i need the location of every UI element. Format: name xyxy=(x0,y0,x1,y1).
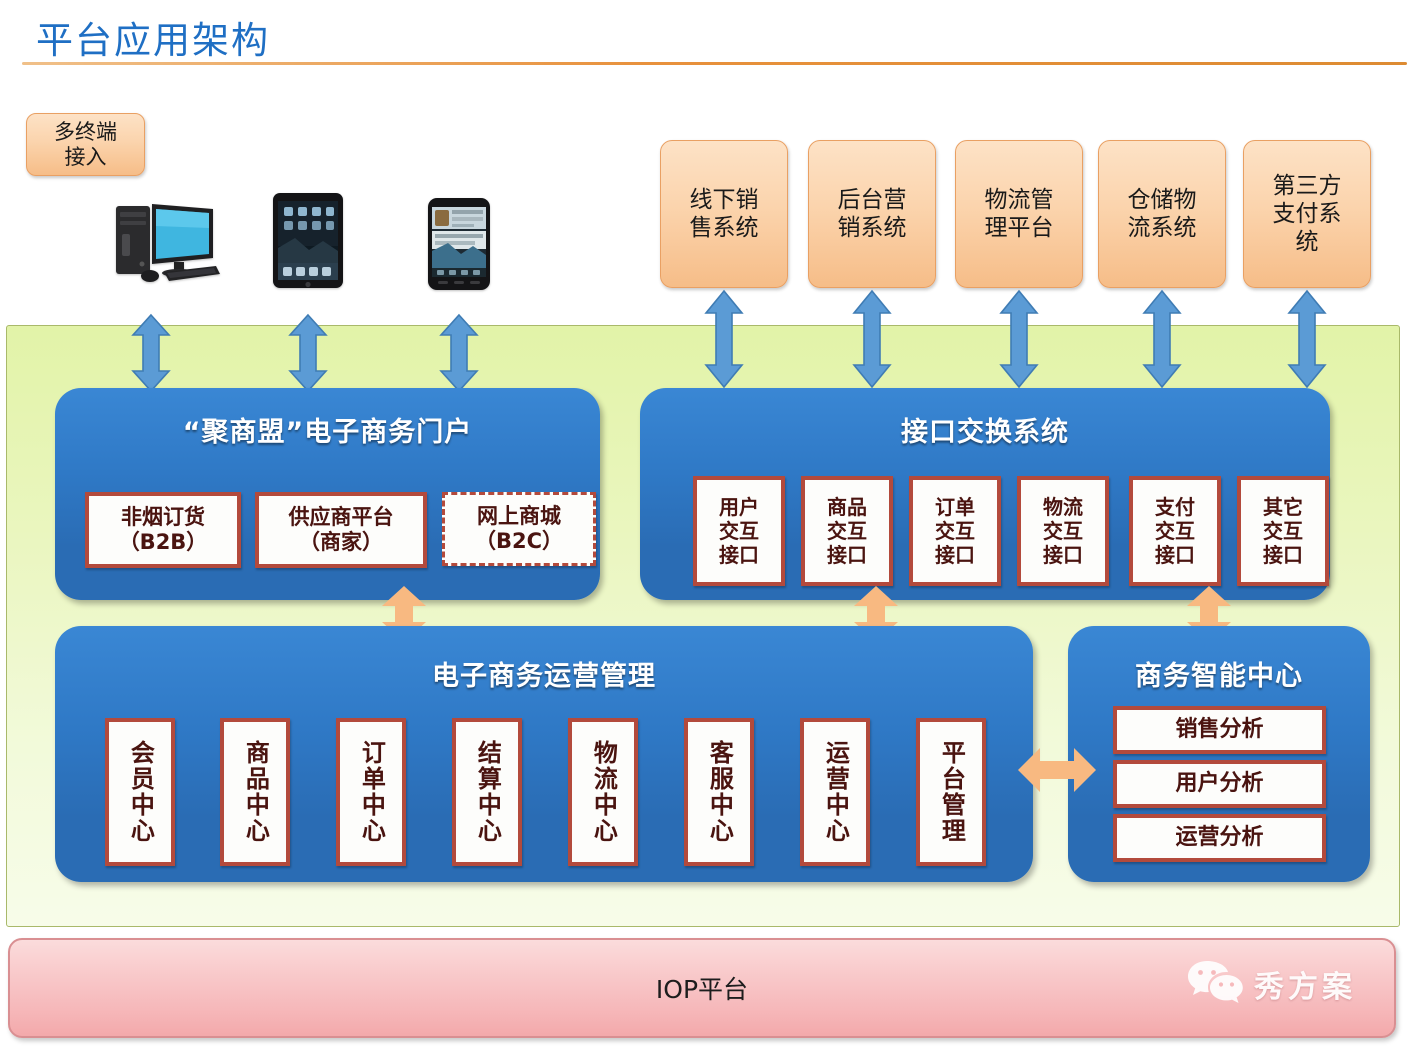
bi-user-analysis-label: 用户分析 xyxy=(1175,771,1263,797)
interface-logistics-line2: 交互 xyxy=(1043,519,1083,543)
smartphone-icon xyxy=(428,198,490,295)
portal-item-b2c[interactable]: 网上商城 （B2C） xyxy=(442,492,596,566)
bi-operation-analysis-label: 运营分析 xyxy=(1175,825,1263,851)
interface-payment-line1: 支付 xyxy=(1155,495,1195,519)
operations-operation-center[interactable]: 运营中心 xyxy=(800,718,870,866)
operations-product-center-label: 商品中心 xyxy=(241,740,270,844)
operations-customer-service-center-label: 客服中心 xyxy=(705,740,734,844)
ext-sys-line3: 统 xyxy=(1273,228,1342,256)
business-intelligence-box: 商务智能中心 销售分析 用户分析 运营分析 xyxy=(1068,626,1370,882)
interface-user-line2: 交互 xyxy=(719,519,759,543)
interface-user-line1: 用户 xyxy=(719,495,759,519)
operations-management-box: 电子商务运营管理 会员中心 商品中心 订单中心 结算中心 物流中心 客服中心 运… xyxy=(55,626,1033,882)
page-title: 平台应用架构 xyxy=(36,10,270,64)
tablet-icon xyxy=(273,193,343,293)
interface-user-line3: 接口 xyxy=(719,543,759,567)
bi-sales-analysis[interactable]: 销售分析 xyxy=(1113,706,1326,754)
ext-sys-line2: 流系统 xyxy=(1128,214,1197,242)
arrow-external-offline-sales xyxy=(703,290,745,388)
interface-payment-line2: 交互 xyxy=(1155,519,1195,543)
external-system-third-party-payment: 第三方 支付系 统 xyxy=(1243,140,1371,288)
interface-product-line3: 接口 xyxy=(827,543,867,567)
interface-payment[interactable]: 支付 交互 接口 xyxy=(1129,476,1221,586)
operations-operation-center-label: 运营中心 xyxy=(821,740,850,844)
desktop-icon xyxy=(112,196,220,291)
bi-operation-analysis[interactable]: 运营分析 xyxy=(1113,814,1326,862)
external-system-offline-sales: 线下销 售系统 xyxy=(660,140,788,288)
ecommerce-portal-box: “聚商盟”电子商务门户 非烟订货 （B2B） 供应商平台 （商家） 网上商城 （… xyxy=(55,388,600,600)
operations-order-center-label: 订单中心 xyxy=(357,740,386,844)
watermark-text: 秀方案 xyxy=(1254,962,1356,1006)
arrow-terminal-smartphone xyxy=(438,314,480,392)
interface-exchange-box: 接口交换系统 用户 交互 接口 商品 交互 接口 订单 交互 接口 物流 交互 … xyxy=(640,388,1330,600)
operations-management-title: 电子商务运营管理 xyxy=(55,654,1033,693)
portal-item-b2b-line2: （B2B） xyxy=(119,530,208,555)
operations-member-center[interactable]: 会员中心 xyxy=(105,718,175,866)
portal-item-b2b-line1: 非烟订货 xyxy=(119,505,208,530)
ext-sys-line2: 支付系 xyxy=(1273,200,1342,228)
portal-item-supplier[interactable]: 供应商平台 （商家） xyxy=(255,492,427,568)
bi-user-analysis[interactable]: 用户分析 xyxy=(1113,760,1326,808)
interface-payment-line3: 接口 xyxy=(1155,543,1195,567)
multi-terminal-line2: 接入 xyxy=(54,145,117,169)
operations-logistics-center-label: 物流中心 xyxy=(589,740,618,844)
interface-other-line1: 其它 xyxy=(1263,495,1303,519)
multi-terminal-line1: 多终端 xyxy=(54,120,117,144)
interface-product[interactable]: 商品 交互 接口 xyxy=(801,476,893,586)
ext-sys-line1: 后台营 xyxy=(838,186,907,214)
bi-sales-analysis-label: 销售分析 xyxy=(1175,717,1263,743)
business-intelligence-title: 商务智能中心 xyxy=(1068,654,1370,693)
arrow-terminal-tablet xyxy=(287,314,329,392)
arrow-external-logistics-platform xyxy=(998,290,1040,388)
portal-item-supplier-line1: 供应商平台 xyxy=(289,505,394,530)
title-divider xyxy=(22,62,1407,65)
portal-item-b2c-line2: （B2C） xyxy=(475,529,563,554)
interface-other-line2: 交互 xyxy=(1263,519,1303,543)
external-system-backend-marketing: 后台营 销系统 xyxy=(808,140,936,288)
ext-sys-line1: 线下销 xyxy=(690,186,759,214)
ext-sys-line2: 销系统 xyxy=(838,214,907,242)
portal-item-supplier-line2: （商家） xyxy=(289,530,394,555)
interface-other-line3: 接口 xyxy=(1263,543,1303,567)
interface-order[interactable]: 订单 交互 接口 xyxy=(909,476,1001,586)
interface-product-line2: 交互 xyxy=(827,519,867,543)
ext-sys-line1: 第三方 xyxy=(1273,172,1342,200)
operations-platform-management-label: 平台管理 xyxy=(937,740,966,844)
operations-order-center[interactable]: 订单中心 xyxy=(336,718,406,866)
interface-product-line1: 商品 xyxy=(827,495,867,519)
operations-settlement-center[interactable]: 结算中心 xyxy=(452,718,522,866)
external-system-warehouse-logistics: 仓储物 流系统 xyxy=(1098,140,1226,288)
iop-platform-bar: IOP平台 秀方案 xyxy=(8,938,1396,1038)
interface-other[interactable]: 其它 交互 接口 xyxy=(1237,476,1329,586)
portal-item-b2b[interactable]: 非烟订货 （B2B） xyxy=(85,492,241,568)
interface-user[interactable]: 用户 交互 接口 xyxy=(693,476,785,586)
interface-order-line1: 订单 xyxy=(935,495,975,519)
arrow-operations-to-bi xyxy=(1018,742,1096,798)
arrow-external-backend-marketing xyxy=(851,290,893,388)
interface-logistics[interactable]: 物流 交互 接口 xyxy=(1017,476,1109,586)
ext-sys-line2: 售系统 xyxy=(690,214,759,242)
ext-sys-line1: 仓储物 xyxy=(1128,186,1197,214)
interface-order-line3: 接口 xyxy=(935,543,975,567)
wechat-icon xyxy=(1186,958,1244,1009)
interface-logistics-line3: 接口 xyxy=(1043,543,1083,567)
operations-logistics-center[interactable]: 物流中心 xyxy=(568,718,638,866)
operations-customer-service-center[interactable]: 客服中心 xyxy=(684,718,754,866)
operations-member-center-label: 会员中心 xyxy=(126,740,155,844)
interface-exchange-title: 接口交换系统 xyxy=(640,410,1330,449)
arrow-terminal-desktop xyxy=(130,314,172,392)
operations-settlement-center-label: 结算中心 xyxy=(473,740,502,844)
external-system-logistics-platform: 物流管 理平台 xyxy=(955,140,1083,288)
operations-platform-management[interactable]: 平台管理 xyxy=(916,718,986,866)
watermark: 秀方案 xyxy=(1186,958,1356,1009)
interface-logistics-line1: 物流 xyxy=(1043,495,1083,519)
ecommerce-portal-title: “聚商盟”电子商务门户 xyxy=(55,410,600,449)
portal-item-b2c-line1: 网上商城 xyxy=(475,504,563,529)
ext-sys-line2: 理平台 xyxy=(985,214,1054,242)
ext-sys-line1: 物流管 xyxy=(985,186,1054,214)
multi-terminal-badge: 多终端 接入 xyxy=(26,113,145,176)
operations-product-center[interactable]: 商品中心 xyxy=(220,718,290,866)
arrow-external-third-party-payment xyxy=(1286,290,1328,388)
arrow-external-warehouse-logistics xyxy=(1141,290,1183,388)
interface-order-line2: 交互 xyxy=(935,519,975,543)
